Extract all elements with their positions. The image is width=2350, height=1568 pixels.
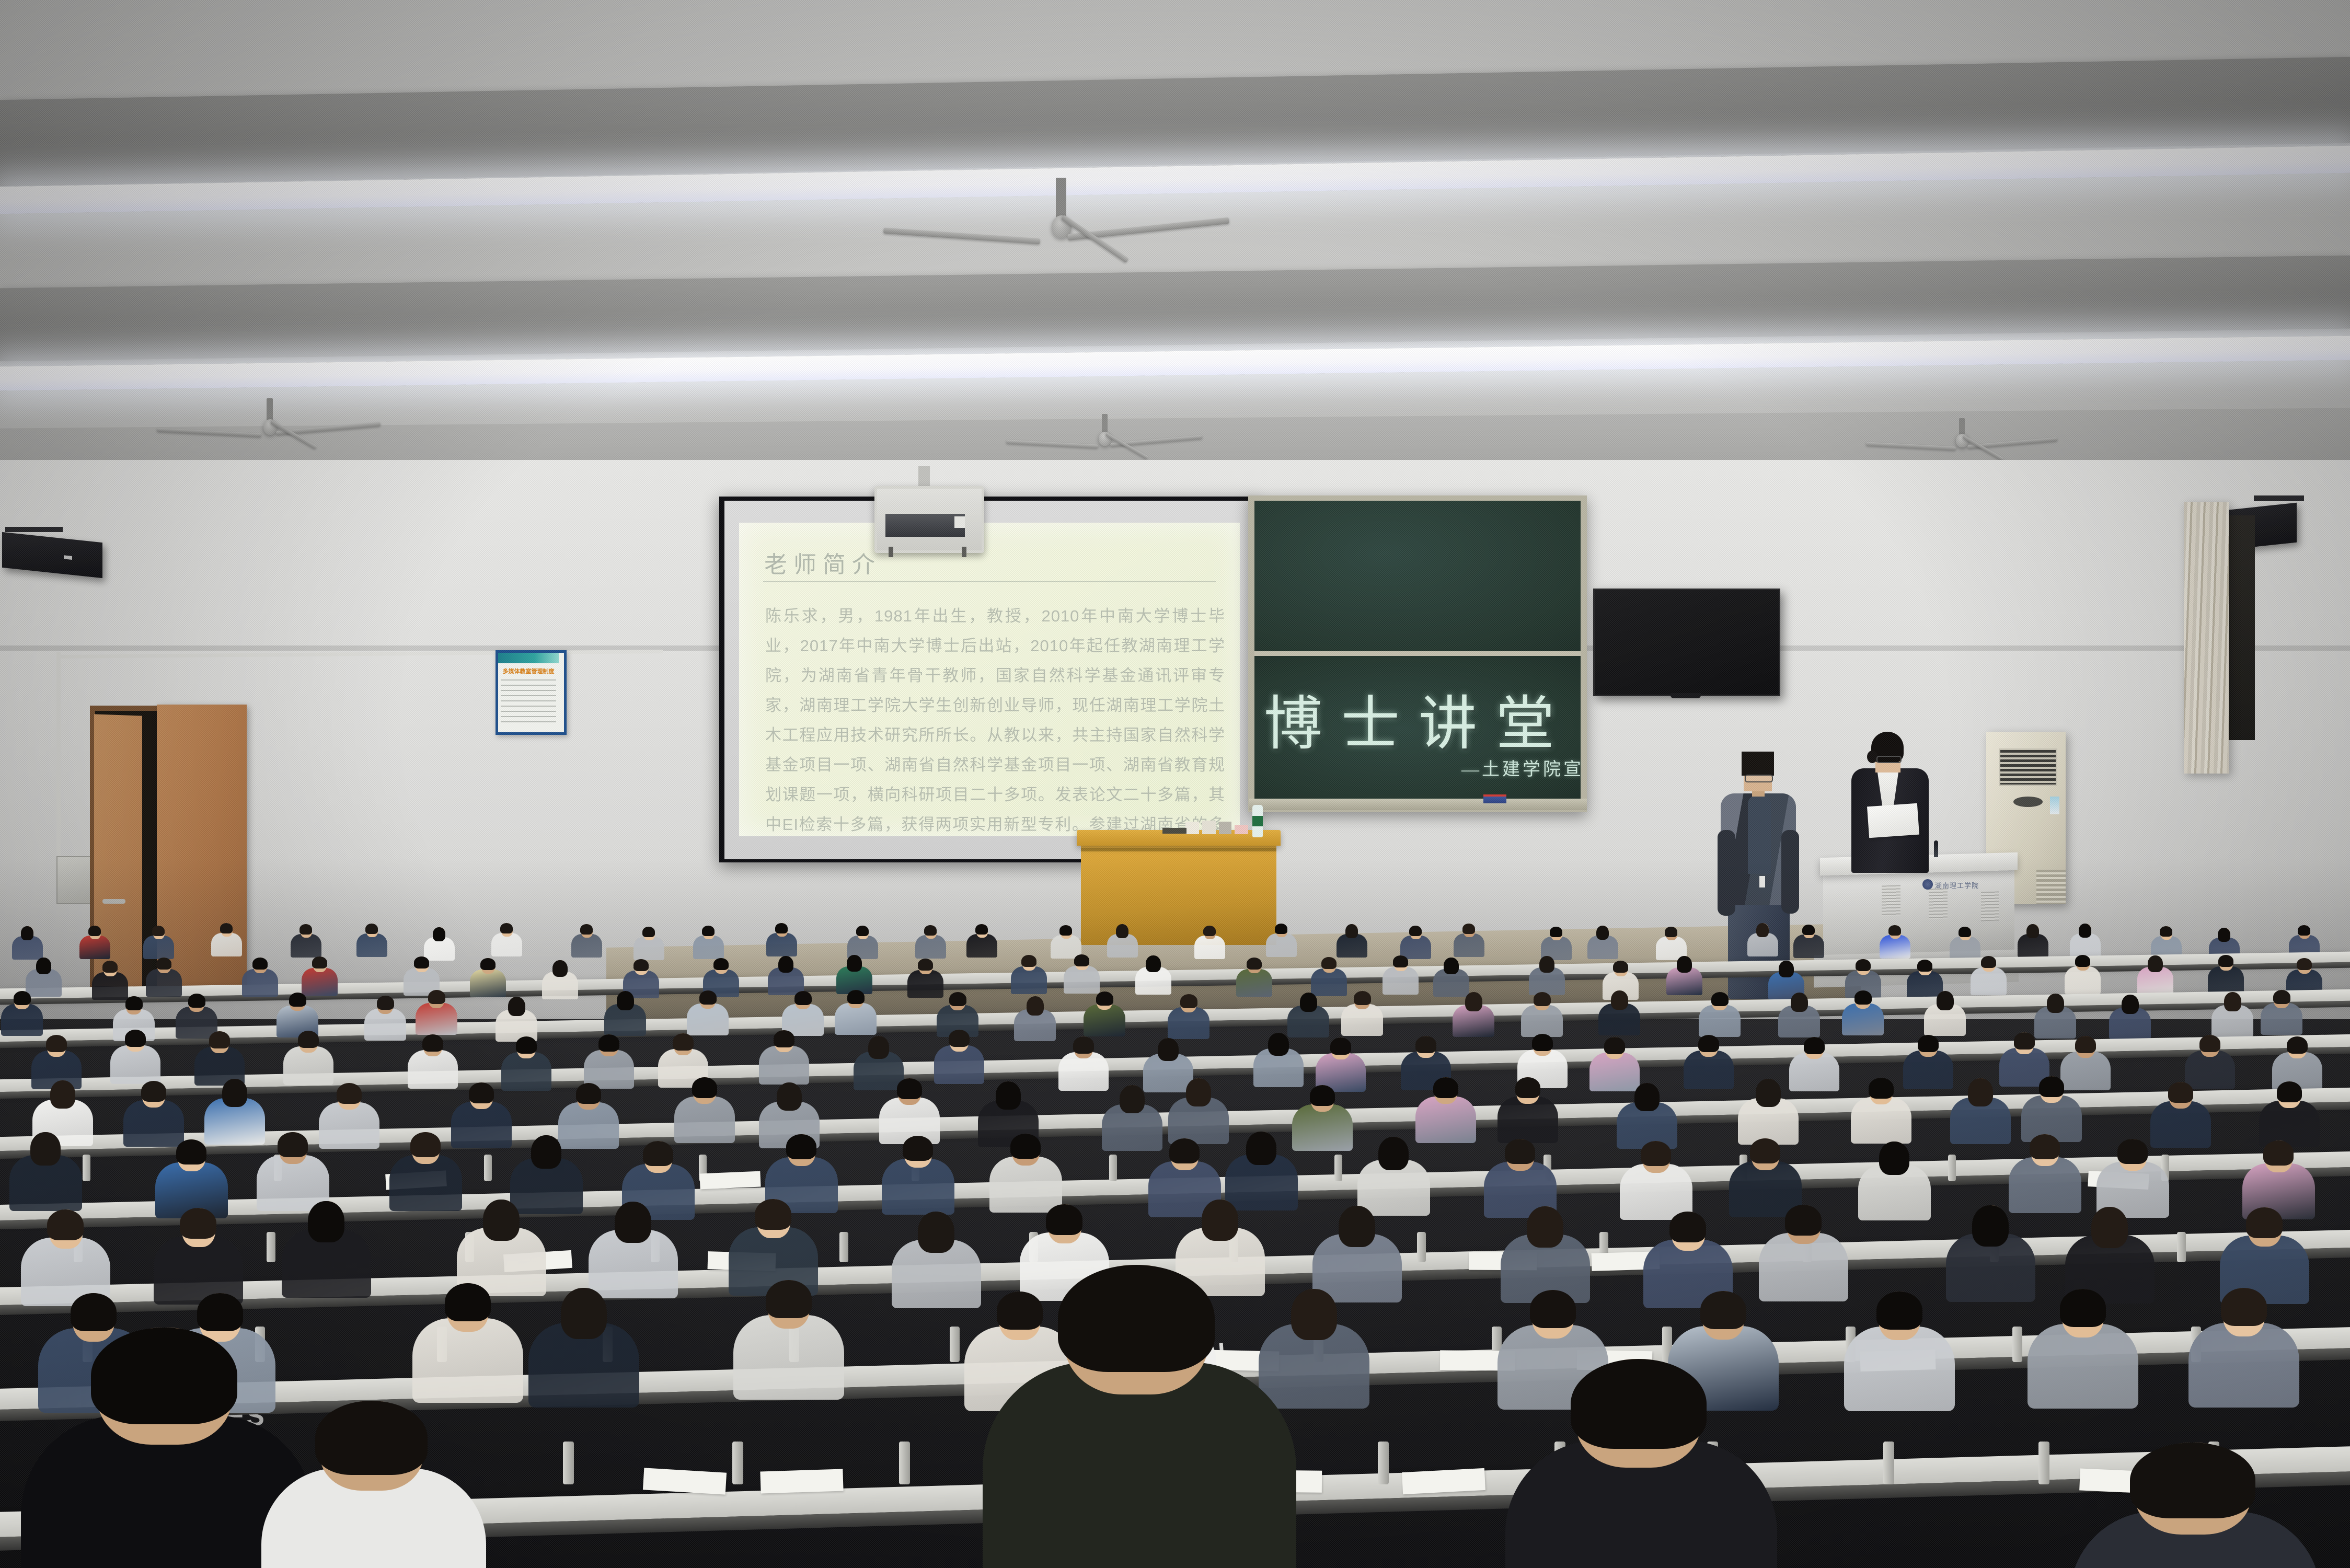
student-hair — [1186, 1078, 1211, 1106]
student — [1842, 990, 1884, 1041]
student-hair — [1393, 955, 1408, 967]
desk-leg — [2038, 1442, 2049, 1484]
student-hair — [2277, 1081, 2302, 1102]
student-hair — [1247, 958, 1262, 970]
student-hair — [531, 1135, 561, 1169]
student-hair — [1074, 954, 1089, 966]
window-dark-pane — [2228, 515, 2255, 740]
student-hair — [88, 926, 101, 936]
student-hair — [615, 1202, 651, 1243]
student-hair — [1779, 961, 1794, 977]
student-hair — [2075, 955, 2090, 967]
student-hair — [299, 924, 312, 935]
student-hair — [1203, 926, 1216, 936]
blackboard-upper-panel — [1254, 501, 1581, 651]
projected-slide: 老师简介 陈乐求，男，1981年出生，教授，2010年中南大学博士毕业，2017… — [739, 523, 1240, 836]
blackboard-headline: 博士讲堂 — [1264, 676, 1572, 761]
student-hair — [1917, 960, 1932, 972]
speaker-bracket-right — [2254, 495, 2304, 501]
desk-leg — [484, 1155, 492, 1181]
student — [2018, 924, 2048, 961]
student — [1107, 924, 1138, 961]
student-hair — [1291, 1289, 1337, 1340]
student-hair — [1021, 955, 1036, 967]
student-hair — [1856, 959, 1871, 971]
student — [2065, 955, 2101, 998]
student-hair — [633, 959, 649, 971]
student — [364, 996, 406, 1046]
student-hair — [1550, 927, 1562, 937]
student — [542, 960, 578, 1004]
student-hair — [924, 925, 937, 936]
student-hair — [278, 1132, 308, 1157]
student-hair — [598, 1034, 619, 1052]
student-hair — [1959, 927, 1971, 937]
desk-leg — [267, 1232, 275, 1262]
foreground-student — [2070, 1443, 2321, 1568]
student-hair — [755, 1199, 791, 1230]
student-hair — [2263, 1140, 2294, 1166]
wall-conduit-vertical — [56, 652, 61, 859]
student-hair — [2060, 1289, 2106, 1327]
student — [291, 924, 321, 961]
student-hair — [1756, 923, 1769, 937]
tv-stand — [1671, 693, 1701, 698]
desk-leg — [732, 1442, 743, 1484]
foreground-student-hair — [315, 1401, 428, 1475]
projector-window — [885, 514, 965, 537]
desk-item-box — [1202, 821, 1216, 834]
poster-text-line — [501, 690, 556, 691]
student-hair — [1120, 1085, 1145, 1113]
student-hair — [2287, 1036, 2308, 1054]
paper-sheet — [699, 1171, 761, 1190]
student-hair — [14, 991, 31, 1005]
desk-leg — [2177, 1232, 2186, 1262]
student — [1950, 1078, 2011, 1151]
student — [1684, 1035, 1734, 1096]
student-hair — [1968, 1078, 1993, 1106]
student — [2028, 1289, 2138, 1422]
student-hair — [1634, 1083, 1660, 1111]
chalk-eraser-icon[interactable] — [1483, 794, 1506, 803]
student-hair — [1530, 1290, 1576, 1328]
student-hair — [1700, 1291, 1746, 1329]
microphone-icon[interactable] — [1934, 840, 1938, 857]
student — [1598, 990, 1640, 1041]
student-hair — [702, 926, 715, 936]
student-hair — [508, 997, 525, 1016]
student-hair — [1532, 1034, 1553, 1051]
student — [2261, 990, 2302, 1040]
student — [1454, 924, 1484, 961]
student-hair — [222, 1079, 247, 1107]
student-hair — [156, 958, 171, 970]
student-hair — [975, 924, 988, 935]
student-hair — [125, 996, 143, 1010]
poster-text-line — [501, 679, 556, 681]
window-curtain[interactable] — [2184, 502, 2229, 774]
desk-leg — [950, 1327, 960, 1362]
desk-item-pink — [1235, 825, 1248, 834]
student-hair — [2075, 1036, 2096, 1053]
student — [934, 1030, 984, 1090]
student-hair — [1275, 924, 1287, 934]
student-hair — [152, 926, 165, 936]
student — [1135, 955, 1171, 999]
student — [211, 923, 242, 960]
student-hair — [786, 1134, 816, 1159]
student-hair — [2246, 1207, 2283, 1238]
student-hair — [50, 1080, 75, 1109]
student-hair — [1888, 925, 1901, 936]
student-hair — [433, 927, 445, 941]
student-hair — [197, 1293, 243, 1331]
student-hair — [410, 1132, 441, 1157]
student — [1341, 991, 1383, 1041]
student-hair — [2218, 928, 2230, 942]
student-hair — [2168, 1082, 2193, 1103]
student — [1971, 956, 2007, 999]
glasses-icon — [1745, 775, 1773, 782]
student-hair — [21, 926, 33, 940]
student-hair — [778, 956, 793, 973]
student — [2109, 995, 2151, 1045]
student — [835, 990, 877, 1040]
student — [1194, 926, 1225, 963]
student-hair — [1785, 1205, 1822, 1236]
paper-sheet — [760, 1469, 843, 1494]
student-hair — [1158, 1038, 1179, 1061]
student — [882, 1136, 954, 1224]
student-hair — [1613, 961, 1628, 973]
student-hair — [897, 1078, 922, 1099]
student-hair — [2026, 924, 2039, 938]
student-hair — [71, 1293, 117, 1331]
foreground-student-hair — [1058, 1265, 1215, 1372]
student — [1844, 1292, 1955, 1425]
poster-text-line — [501, 695, 556, 696]
student-hair — [868, 1036, 889, 1059]
poster-text-line — [501, 721, 556, 722]
student — [1880, 925, 1910, 962]
student-hair — [480, 958, 496, 970]
student-hair — [2218, 955, 2233, 967]
student-hair — [642, 927, 655, 937]
student-hair — [2160, 926, 2172, 937]
student-hair — [180, 1208, 216, 1239]
student-hair — [949, 992, 966, 1006]
student — [759, 1030, 809, 1091]
student-hair — [2148, 955, 2163, 972]
student-hair — [576, 1083, 601, 1104]
student — [9, 1132, 82, 1220]
man-hair — [1742, 752, 1774, 776]
student-hair — [1202, 1200, 1238, 1241]
student — [633, 927, 664, 964]
student-hair — [30, 1132, 61, 1166]
poster-text-line — [501, 711, 556, 712]
student-hair — [428, 990, 445, 1004]
student-hair — [1534, 992, 1551, 1006]
student-hair — [766, 1280, 812, 1318]
student — [766, 923, 797, 960]
student-hair — [1409, 926, 1422, 936]
student-hair — [1677, 956, 1692, 973]
projector-foot — [962, 547, 966, 557]
student-hair — [903, 1136, 933, 1161]
student — [1011, 955, 1047, 998]
student-hair — [1869, 1078, 1894, 1099]
student-hair — [1669, 1212, 1706, 1242]
student-hair — [1300, 993, 1317, 1012]
student-hair — [580, 924, 593, 935]
student — [1337, 924, 1367, 961]
poster-text-line — [501, 700, 556, 701]
student-hair — [176, 1139, 206, 1165]
student-hair — [1116, 924, 1128, 938]
student — [1587, 926, 1618, 963]
student-hair — [47, 1209, 84, 1240]
student-hair — [377, 996, 394, 1010]
foreground-student-hair — [1571, 1359, 1707, 1449]
blackboard-divider — [1254, 651, 1581, 656]
student-hair — [2224, 992, 2241, 1011]
student-hair — [1505, 1139, 1535, 1164]
desk-item-box — [1185, 822, 1199, 834]
student — [242, 958, 278, 1001]
student-hair — [1465, 992, 1482, 1011]
student-hair — [1096, 991, 1113, 1006]
student — [283, 1031, 333, 1091]
poster-text-line — [501, 716, 556, 717]
student-hair — [1462, 924, 1475, 934]
slide-title-rule — [763, 581, 1216, 582]
student — [356, 924, 387, 961]
student-hair — [414, 956, 429, 969]
speaker-bracket-left — [5, 527, 63, 532]
student — [1747, 923, 1778, 960]
student — [571, 924, 602, 961]
student-hair — [1756, 1079, 1781, 1107]
student — [1383, 955, 1419, 999]
blackboard-signature: —土建学院宣 — [1461, 755, 1584, 780]
student-hair — [1246, 1132, 1276, 1165]
student — [389, 1132, 462, 1220]
student-hair — [298, 1031, 319, 1048]
student-hair — [1750, 1138, 1780, 1163]
student-hair — [1981, 956, 1996, 968]
student-hair — [1059, 925, 1072, 936]
desk-leg — [1948, 1155, 1956, 1181]
student — [1946, 1205, 2035, 1313]
student-hair — [2298, 925, 2310, 936]
student — [1924, 991, 1966, 1041]
student-hair — [1879, 1142, 1909, 1175]
student-hair — [1665, 927, 1677, 937]
poster-title: 多媒体教室管理制度 — [498, 667, 559, 675]
student-hair — [643, 1141, 673, 1166]
student-hair — [1641, 1141, 1671, 1166]
projector-foot — [889, 547, 893, 557]
student-hair — [102, 961, 118, 973]
ac-vent-grille — [1999, 748, 2057, 786]
student — [491, 923, 522, 960]
student — [416, 990, 457, 1040]
student-hair — [1146, 955, 1161, 972]
student-hair — [1711, 992, 1729, 1006]
student-hair — [1604, 1037, 1625, 1054]
student-hair — [777, 1082, 802, 1111]
student — [1084, 991, 1125, 1042]
foreground-student — [983, 1265, 1296, 1568]
student-hair — [1515, 1077, 1540, 1098]
student-hair — [312, 956, 327, 969]
student — [966, 924, 997, 961]
student-hair — [699, 990, 717, 1005]
poster-text-line — [501, 685, 556, 686]
student-hair — [1611, 990, 1628, 1010]
woman-hair-bun — [1867, 751, 1877, 763]
student-hair — [1937, 991, 1954, 1010]
slide-body-text: 陈乐求，男，1981年出生，教授，2010年中南大学博士毕业，2017年中南大学… — [765, 601, 1225, 836]
glasses-icon — [1876, 756, 1902, 763]
student-hair — [1698, 1035, 1719, 1052]
student-hair — [1433, 1077, 1458, 1098]
student-hair — [1339, 1206, 1375, 1247]
foreground-student — [1505, 1359, 1777, 1568]
student — [2188, 1288, 2299, 1421]
speech-paper — [1867, 803, 1919, 838]
ac-display-panel — [2013, 797, 2043, 807]
desk-leg — [1378, 1442, 1389, 1484]
poster-text-line — [501, 706, 556, 707]
student-hair — [1802, 925, 1815, 935]
student-hair — [2091, 1207, 2128, 1248]
desk-leg — [1334, 1155, 1342, 1181]
student — [79, 926, 110, 963]
student-hair — [1918, 1035, 1939, 1052]
student-hair — [516, 1036, 537, 1054]
student-hair — [422, 1034, 443, 1052]
student — [528, 1288, 639, 1421]
student-hair — [141, 1081, 166, 1102]
student-hair — [1876, 1292, 1922, 1330]
desk-leg — [1417, 1232, 1426, 1262]
student — [412, 1283, 523, 1416]
student-hair — [365, 924, 378, 934]
foreground-student — [261, 1401, 486, 1568]
student-hair — [1804, 1037, 1825, 1054]
student-hair — [856, 926, 869, 936]
paper-sheet — [1402, 1468, 1485, 1494]
student-hair — [1854, 990, 1872, 1005]
student-hair — [673, 1033, 694, 1051]
student — [674, 1077, 735, 1150]
student-hair — [713, 958, 729, 970]
student-hair — [46, 1035, 67, 1052]
ac-energy-label — [2050, 797, 2059, 814]
student-hair — [1378, 1137, 1409, 1170]
student-hair — [1972, 1205, 2009, 1247]
student-hair — [125, 1030, 146, 1047]
student-hair — [1596, 926, 1609, 940]
student-hair — [692, 1077, 717, 1098]
water-bottle — [1252, 805, 1263, 837]
student-hair — [337, 1083, 362, 1104]
student-hair — [1027, 996, 1044, 1016]
student-hair — [2122, 995, 2139, 1014]
projector-lens — [954, 516, 965, 528]
desk-shadow-line — [1081, 848, 1276, 851]
student-hair — [1791, 993, 1808, 1012]
student — [1058, 1036, 1109, 1097]
student-hair — [2273, 990, 2290, 1004]
chalk-ledge — [1249, 799, 1587, 810]
student-hair — [2014, 1032, 2035, 1050]
student-hair — [1169, 1138, 1200, 1163]
student-hair — [469, 1082, 494, 1103]
poster-header-band — [498, 653, 559, 663]
student — [1793, 925, 1824, 962]
student-hair — [209, 1031, 230, 1048]
student — [1453, 992, 1494, 1042]
student-hair — [289, 993, 306, 1007]
student-hair — [1415, 1036, 1436, 1053]
student-hair — [483, 1200, 520, 1241]
student-hair — [2039, 1076, 2064, 1097]
student-hair — [949, 1030, 970, 1047]
student — [1014, 996, 1056, 1046]
student — [1236, 958, 1272, 1001]
foreground-student-hair — [2130, 1443, 2255, 1518]
student — [1168, 994, 1209, 1044]
student — [1266, 924, 1297, 961]
student — [1851, 1078, 1911, 1151]
student-hair — [918, 1212, 954, 1253]
student-hair — [2079, 924, 2091, 938]
student-hair — [847, 990, 865, 1004]
student-hair — [1073, 1036, 1094, 1054]
student — [1858, 1142, 1931, 1229]
student-hair — [2221, 1288, 2267, 1326]
student-hair — [2199, 1035, 2220, 1052]
student — [604, 991, 646, 1041]
student-hair — [552, 960, 568, 977]
desk-leg — [83, 1155, 90, 1181]
student-hair — [794, 991, 812, 1005]
student-hair — [1330, 1037, 1351, 1055]
student-hair — [2297, 958, 2312, 970]
wall-mounted-tv[interactable] — [1593, 589, 1780, 696]
student — [733, 1280, 844, 1413]
student-hair — [918, 959, 933, 971]
student — [693, 926, 724, 963]
student-hair — [36, 958, 51, 974]
desk-leg — [563, 1442, 574, 1484]
desk-item-book — [1162, 828, 1186, 834]
student-hair — [2117, 1139, 2148, 1164]
student-hair — [1180, 994, 1197, 1008]
desk-item-box — [1219, 822, 1231, 834]
student — [282, 1201, 371, 1309]
student-hair — [1321, 957, 1337, 969]
desk-leg — [1883, 1442, 1894, 1484]
student-hair — [252, 958, 268, 970]
student-hair — [774, 1030, 794, 1047]
student-hair — [1345, 924, 1358, 938]
student-hair — [1444, 958, 1459, 974]
